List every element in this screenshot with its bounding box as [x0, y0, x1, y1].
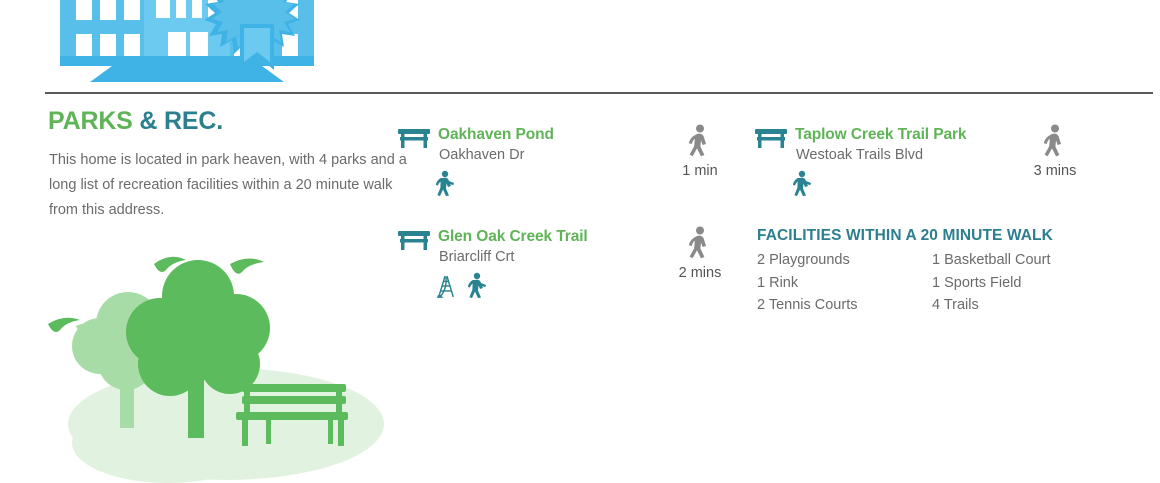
walk-time: 2 mins — [663, 226, 737, 281]
amenity-row — [436, 168, 456, 198]
walk-time: 1 min — [663, 124, 737, 179]
park-address: Briarcliff Crt — [439, 249, 514, 265]
page-title-rec: & REC. — [139, 107, 223, 135]
facility-item: 2 Playgrounds — [757, 249, 932, 272]
park-address: Oakhaven Dr — [439, 147, 524, 163]
facilities-heading: FACILITIES WITHIN A 20 MINUTE WALK — [757, 227, 1107, 245]
playground-slide-icon — [436, 272, 456, 300]
park-address: Westoak Trails Blvd — [796, 147, 923, 163]
facility-item: 1 Basketball Court — [932, 249, 1107, 272]
walk-time-label: 2 mins — [663, 265, 737, 281]
facility-item: 4 Trails — [932, 294, 1107, 317]
park-name: Oakhaven Pond — [438, 126, 554, 144]
facilities-column-two: 1 Basketball Court 1 Sports Field 4 Trai… — [932, 249, 1107, 317]
park-name: Glen Oak Creek Trail — [438, 228, 588, 246]
facility-item: 1 Sports Field — [932, 272, 1107, 295]
walking-person-icon — [1042, 124, 1068, 162]
facilities-panel: FACILITIES WITHIN A 20 MINUTE WALK 2 Pla… — [757, 227, 1107, 317]
walk-time: 3 mins — [1018, 124, 1092, 179]
amenity-row — [436, 270, 488, 300]
walk-time-label: 1 min — [663, 163, 737, 179]
park-name: Taplow Creek Trail Park — [795, 126, 966, 144]
page-title: PARKS & REC. — [48, 107, 223, 136]
jogger-icon — [468, 272, 488, 300]
jogger-icon — [436, 170, 456, 198]
jogger-icon — [793, 170, 813, 198]
page-title-parks: PARKS — [48, 107, 133, 135]
picnic-table-icon — [398, 230, 430, 250]
walk-time-label: 3 mins — [1018, 163, 1092, 179]
picnic-table-icon — [755, 128, 787, 148]
picnic-table-icon — [398, 128, 430, 148]
facility-item: 2 Tennis Courts — [757, 294, 932, 317]
walking-person-icon — [687, 124, 713, 162]
section-divider — [45, 92, 1153, 94]
parks-description: This home is located in park heaven, wit… — [49, 148, 409, 223]
park-trees-bench-illustration — [40, 228, 412, 483]
facility-item: 1 Rink — [757, 272, 932, 295]
walking-person-icon — [687, 226, 713, 264]
apartment-building-illustration — [52, 0, 322, 82]
amenity-row — [793, 168, 813, 198]
facilities-column-one: 2 Playgrounds 1 Rink 2 Tennis Courts — [757, 249, 932, 317]
